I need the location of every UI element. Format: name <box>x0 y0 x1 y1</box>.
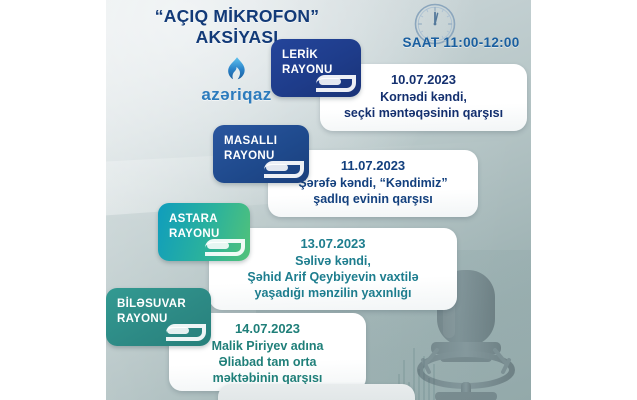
event-date: 13.07.2023 <box>219 235 447 252</box>
flame-icon <box>224 56 250 83</box>
district-badge-line1: ASTARA <box>169 212 239 227</box>
time-label: SAAT 11:00-12:00 <box>371 35 531 50</box>
event-venue: Şərəfə kəndi, “Kəndimiz” şadlıq evinin q… <box>278 175 468 207</box>
district-badge-masalli: MASALLI RAYONU <box>213 125 309 183</box>
event-venue: Malik Piriyev adına Əliabad tam orta mək… <box>179 338 356 386</box>
district-badge-bilesuvar: BİLƏSUVAR RAYONU <box>106 288 211 346</box>
title-line-1: “AÇIQ MİKROFON” <box>112 6 362 27</box>
badge-stub <box>319 78 341 85</box>
event-venue: Kornədi kəndi, seçki məntəqəsinin qarşıs… <box>330 89 517 121</box>
poster-canvas: “AÇIQ MİKROFON” AKSİYASI azəriqaz <box>106 0 531 400</box>
badge-stub <box>207 242 229 249</box>
badge-stub <box>167 327 189 334</box>
event-card-next-partial <box>218 384 415 400</box>
district-badge-line1: BİLƏSUVAR <box>117 297 200 312</box>
poster-frame: “AÇIQ MİKROFON” AKSİYASI azəriqaz <box>0 0 637 400</box>
district-badge-line1: MASALLI <box>224 134 298 149</box>
district-badge-line1: LERİK <box>282 48 350 63</box>
badge-stub <box>266 164 288 171</box>
district-badge-lerik: LERİK RAYONU <box>271 39 361 97</box>
district-badge-astara: ASTARA RAYONU <box>158 203 250 261</box>
event-venue: Səlivə kəndi, Şəhid Arif Qeybiyevin vaxt… <box>219 253 447 301</box>
